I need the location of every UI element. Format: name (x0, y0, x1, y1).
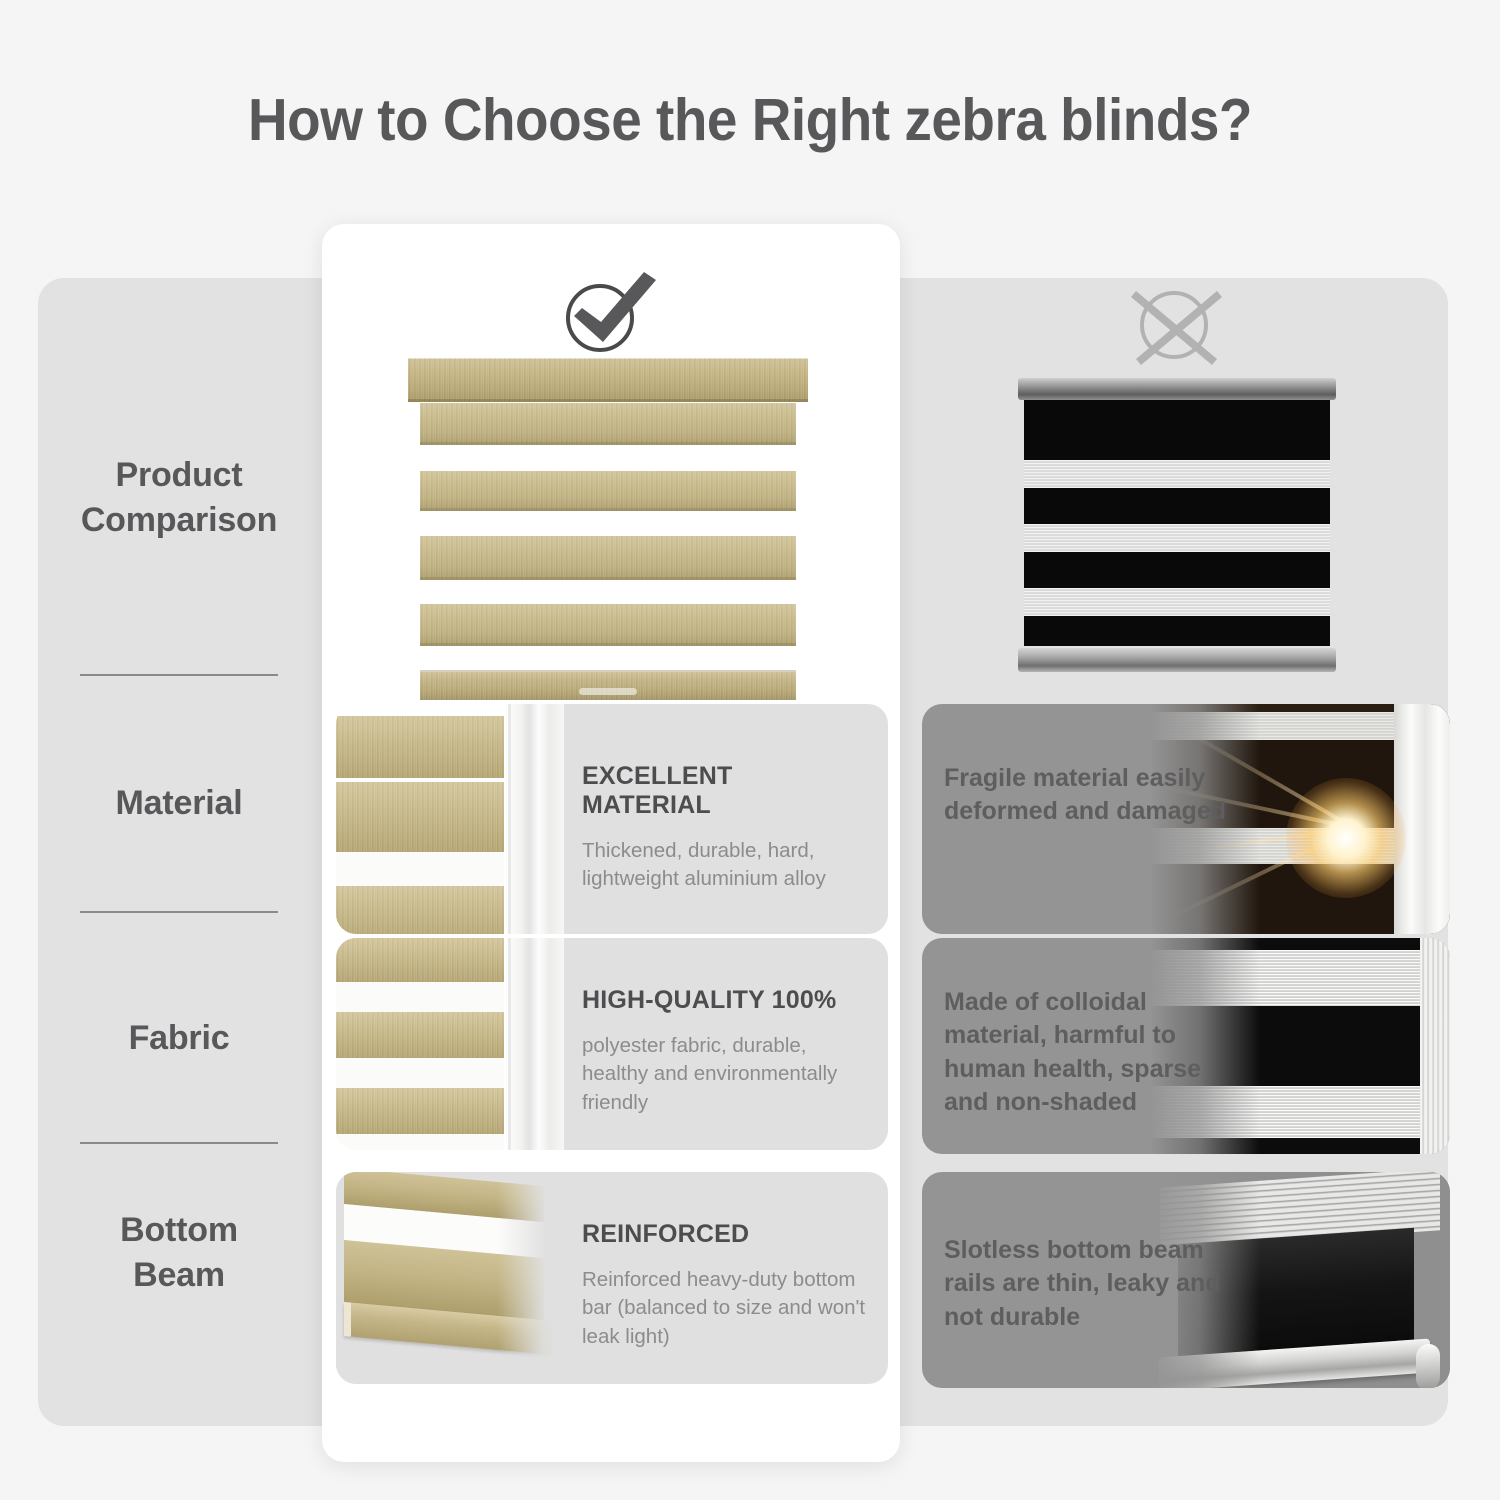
good-product-image (408, 358, 808, 698)
good-card-body: polyester fabric, durable, healthy and e… (582, 1032, 868, 1117)
row-label-sidebar: ProductComparison Material Fabric Bottom… (38, 278, 320, 1426)
blind-sheer-band (1024, 588, 1330, 616)
blind-headrail (408, 358, 808, 402)
good-card-heading: REINFORCED (582, 1220, 868, 1249)
page-title: How to Choose the Right zebra blinds? (53, 86, 1448, 154)
sidebar-divider (80, 911, 278, 913)
blind-bottom-bar (420, 670, 796, 700)
bad-card-bottom-beam: Slotless bottom beam rails are thin, lea… (922, 1172, 1450, 1388)
row-label-text: BottomBeam (120, 1208, 238, 1298)
good-card-bottom-beam-image (336, 1172, 564, 1384)
good-card-material-image (336, 704, 564, 934)
bad-card-text: Slotless bottom beam rails are thin, lea… (944, 1234, 1244, 1334)
good-card-heading: HIGH-QUALITY 100% (582, 986, 868, 1015)
row-label-text: ProductComparison (81, 453, 277, 543)
sidebar-divider (80, 674, 278, 676)
blind-slat (420, 536, 796, 580)
blind-fabric (1024, 400, 1330, 646)
bad-card-text: Fragile material easily deformed and dam… (944, 762, 1244, 829)
row-label-bottom-beam: BottomBeam (38, 1183, 320, 1323)
blind-slat (420, 604, 796, 646)
blind-bottom-bar (1018, 648, 1336, 672)
bad-card-material: Fragile material easily deformed and dam… (922, 704, 1450, 934)
good-card-material: EXCELLENT MATERIAL Thickened, durable, h… (336, 704, 888, 934)
blind-handle (579, 688, 637, 695)
check-circle-icon (548, 268, 668, 354)
bad-card-text: Made of colloidal material, harmful to h… (944, 986, 1244, 1119)
bad-card-fabric: Made of colloidal material, harmful to h… (922, 938, 1450, 1154)
cross-circle-icon (1122, 282, 1226, 368)
bad-product-image (1018, 378, 1336, 674)
blind-sheer-band (1024, 460, 1330, 488)
good-card-body: Thickened, durable, hard, lightweight al… (582, 837, 868, 894)
blind-slat (420, 403, 796, 445)
row-label-material: Material (38, 733, 320, 873)
blind-headrail (1018, 378, 1336, 400)
good-card-bottom-beam: REINFORCED Reinforced heavy-duty bottom … (336, 1172, 888, 1384)
row-label-fabric: Fabric (38, 968, 320, 1108)
good-card-heading: EXCELLENT MATERIAL (582, 762, 868, 820)
blind-slat (420, 471, 796, 511)
good-card-fabric-image (336, 938, 564, 1150)
good-card-fabric: HIGH-QUALITY 100% polyester fabric, dura… (336, 938, 888, 1150)
good-card-body: Reinforced heavy-duty bottom bar (balanc… (582, 1266, 868, 1351)
row-label-product-comparison: ProductComparison (38, 428, 320, 568)
blind-sheer-band (1024, 524, 1330, 552)
sidebar-divider (80, 1142, 278, 1144)
